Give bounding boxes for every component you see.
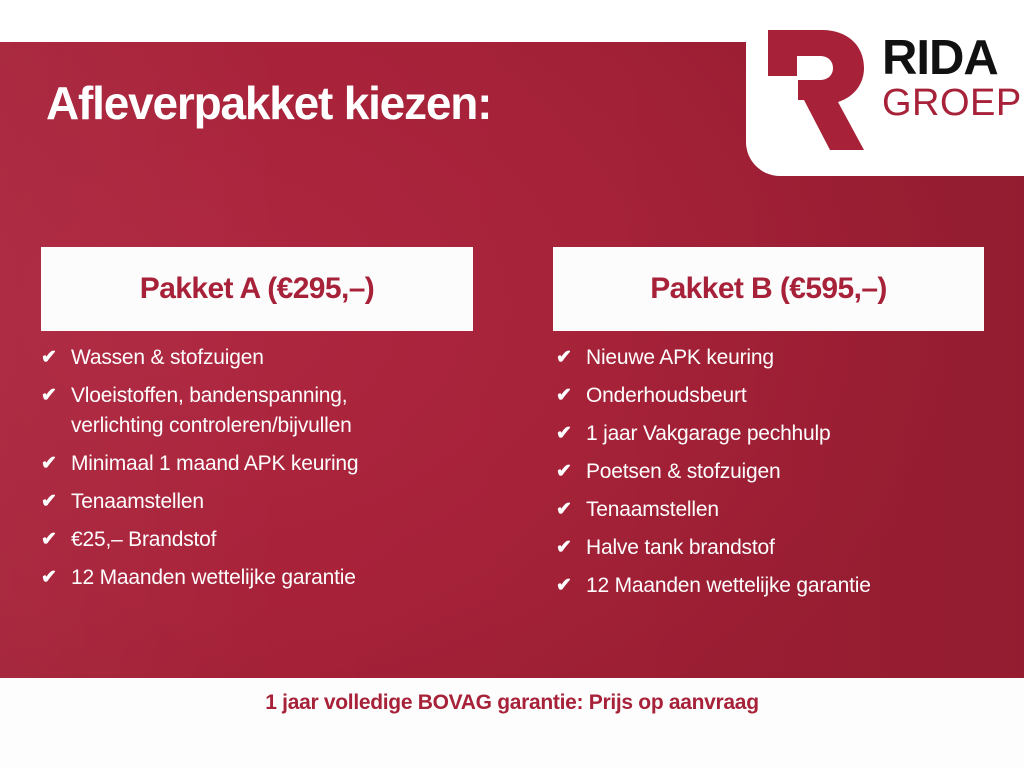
check-icon: ✔: [41, 487, 71, 517]
list-item: ✔ 12 Maanden wettelijke garantie: [41, 563, 511, 593]
list-item-label: 1 jaar Vakgarage pechhulp: [586, 419, 1024, 449]
list-item: ✔ Tenaamstellen: [41, 487, 511, 517]
check-icon: ✔: [556, 457, 586, 487]
list-item: ✔ Halve tank brandstof: [556, 533, 1024, 563]
package-card-b[interactable]: Pakket B (€595,–): [553, 247, 984, 331]
package-a-feature-list: ✔ Wassen & stofzuigen ✔ Vloeistoffen, ba…: [41, 343, 511, 601]
list-item-label: €25,– Brandstof: [71, 525, 511, 555]
check-icon: ✔: [556, 571, 586, 601]
check-icon: ✔: [41, 563, 71, 593]
check-icon: ✔: [41, 381, 71, 411]
check-icon: ✔: [556, 381, 586, 411]
list-item-label: Minimaal 1 maand APK keuring: [71, 449, 511, 479]
check-icon: ✔: [556, 533, 586, 563]
footer-text: 1 jaar volledige BOVAG garantie: Prijs o…: [265, 691, 758, 715]
logo-panel: RIDA GROEP: [746, 0, 1024, 176]
logo-wordmark: RIDA GROEP: [882, 34, 1016, 122]
list-item: ✔ Onderhoudsbeurt: [556, 381, 1024, 411]
check-icon: ✔: [41, 343, 71, 373]
package-card-a[interactable]: Pakket A (€295,–): [41, 247, 473, 331]
list-item: ✔ Tenaamstellen: [556, 495, 1024, 525]
page-title: Afleverpakket kiezen:: [46, 79, 491, 127]
package-b-feature-list: ✔ Nieuwe APK keuring ✔ Onderhoudsbeurt ✔…: [556, 343, 1024, 609]
list-item: ✔ 1 jaar Vakgarage pechhulp: [556, 419, 1024, 449]
package-b-title: Pakket B (€595,–): [650, 272, 887, 306]
list-item-label: Onderhoudsbeurt: [586, 381, 1024, 411]
list-item: ✔ Wassen & stofzuigen: [41, 343, 511, 373]
list-item: ✔ Minimaal 1 maand APK keuring: [41, 449, 511, 479]
check-icon: ✔: [556, 495, 586, 525]
list-item-label: Halve tank brandstof: [586, 533, 1024, 563]
list-item-label: Nieuwe APK keuring: [586, 343, 1024, 373]
rida-r-monogram-icon: [764, 28, 868, 152]
list-item-label: Poetsen & stofzuigen: [586, 457, 1024, 487]
logo-primary-text: RIDA: [882, 34, 1016, 82]
list-item-label: 12 Maanden wettelijke garantie: [586, 571, 1024, 601]
list-item-label: Tenaamstellen: [71, 487, 511, 517]
logo-lockup: RIDA GROEP: [764, 26, 1014, 154]
list-item: ✔ 12 Maanden wettelijke garantie: [556, 571, 1024, 601]
check-icon: ✔: [556, 343, 586, 373]
list-item-label: Vloeistoffen, bandenspanning, verlichtin…: [71, 381, 511, 441]
list-item-label: Wassen & stofzuigen: [71, 343, 511, 373]
list-item-label: 12 Maanden wettelijke garantie: [71, 563, 511, 593]
list-item: ✔ Poetsen & stofzuigen: [556, 457, 1024, 487]
check-icon: ✔: [41, 449, 71, 479]
list-item-label: Tenaamstellen: [586, 495, 1024, 525]
check-icon: ✔: [41, 525, 71, 555]
logo-secondary-text: GROEP: [882, 84, 1016, 122]
footer-bar: 1 jaar volledige BOVAG garantie: Prijs o…: [0, 678, 1024, 768]
slide-root: RIDA GROEP Afleverpakket kiezen: Pakket …: [0, 0, 1024, 768]
list-item: ✔ Vloeistoffen, bandenspanning, verlicht…: [41, 381, 511, 441]
list-item: ✔ Nieuwe APK keuring: [556, 343, 1024, 373]
list-item: ✔ €25,– Brandstof: [41, 525, 511, 555]
package-a-title: Pakket A (€295,–): [140, 272, 374, 306]
check-icon: ✔: [556, 419, 586, 449]
